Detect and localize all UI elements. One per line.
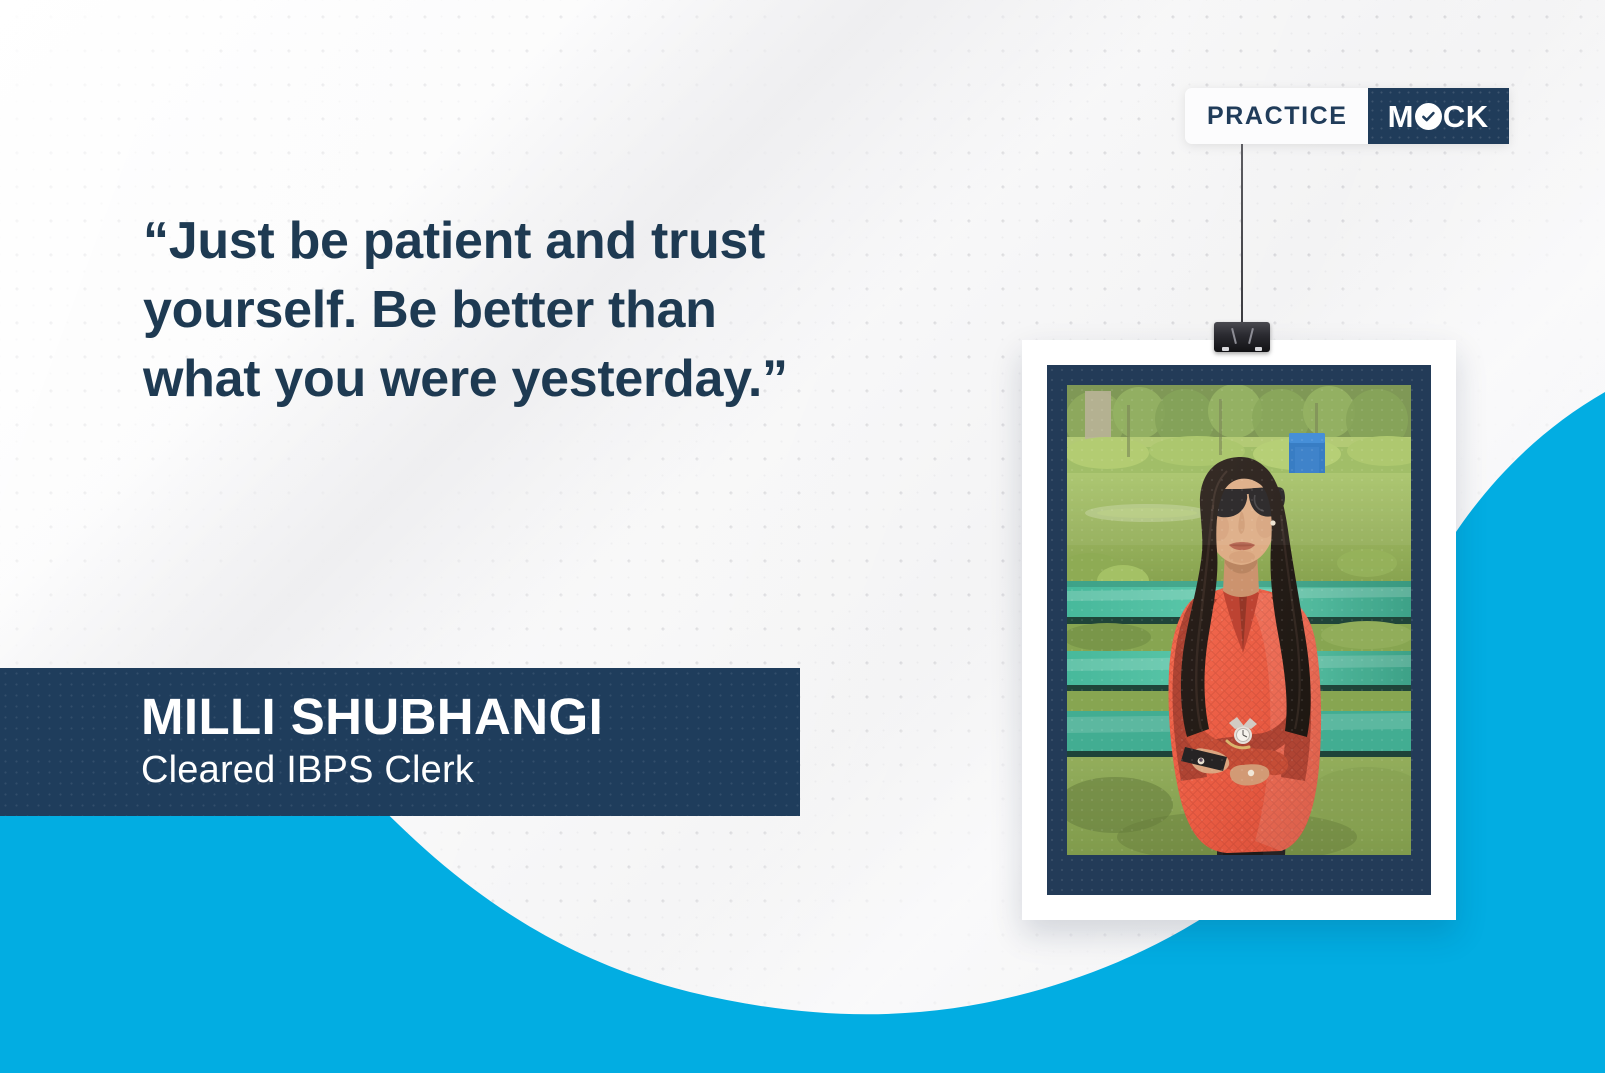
clip-arm-left [1231,328,1237,344]
logo-mock-badge: M CK [1368,88,1509,144]
quote-line-3: what you were yesterday.” [143,345,903,414]
photo-mat [1047,365,1431,895]
student-photo [1067,385,1411,855]
hanging-string [1241,144,1243,330]
check-circle-icon [1415,103,1442,130]
testimonial-quote: “Just be patient and trust yourself. Be … [143,207,903,414]
quote-line-2: yourself. Be better than [143,276,903,345]
testimonial-poster: PRACTICE M CK “Just be patient and trust… [0,0,1605,1073]
student-name: MILLI SHUBHANGI [141,688,800,745]
quote-line-1: “Just be patient and trust [143,207,903,276]
clip-foot-right [1255,347,1262,351]
clip-foot-left [1222,347,1229,351]
logo-practice-text: PRACTICE [1185,88,1368,144]
binder-clip-icon [1214,322,1270,352]
name-banner: MILLI SHUBHANGI Cleared IBPS Clerk [0,668,800,816]
photo-illustration [1067,385,1411,855]
logo-mock-letter-m: M [1388,101,1414,132]
clip-arm-right [1248,328,1254,344]
logo-mock-letters-ck: CK [1443,101,1489,132]
polaroid-frame [1022,340,1456,920]
brand-logo[interactable]: PRACTICE M CK [1185,88,1509,144]
student-achievement: Cleared IBPS Clerk [141,747,800,795]
